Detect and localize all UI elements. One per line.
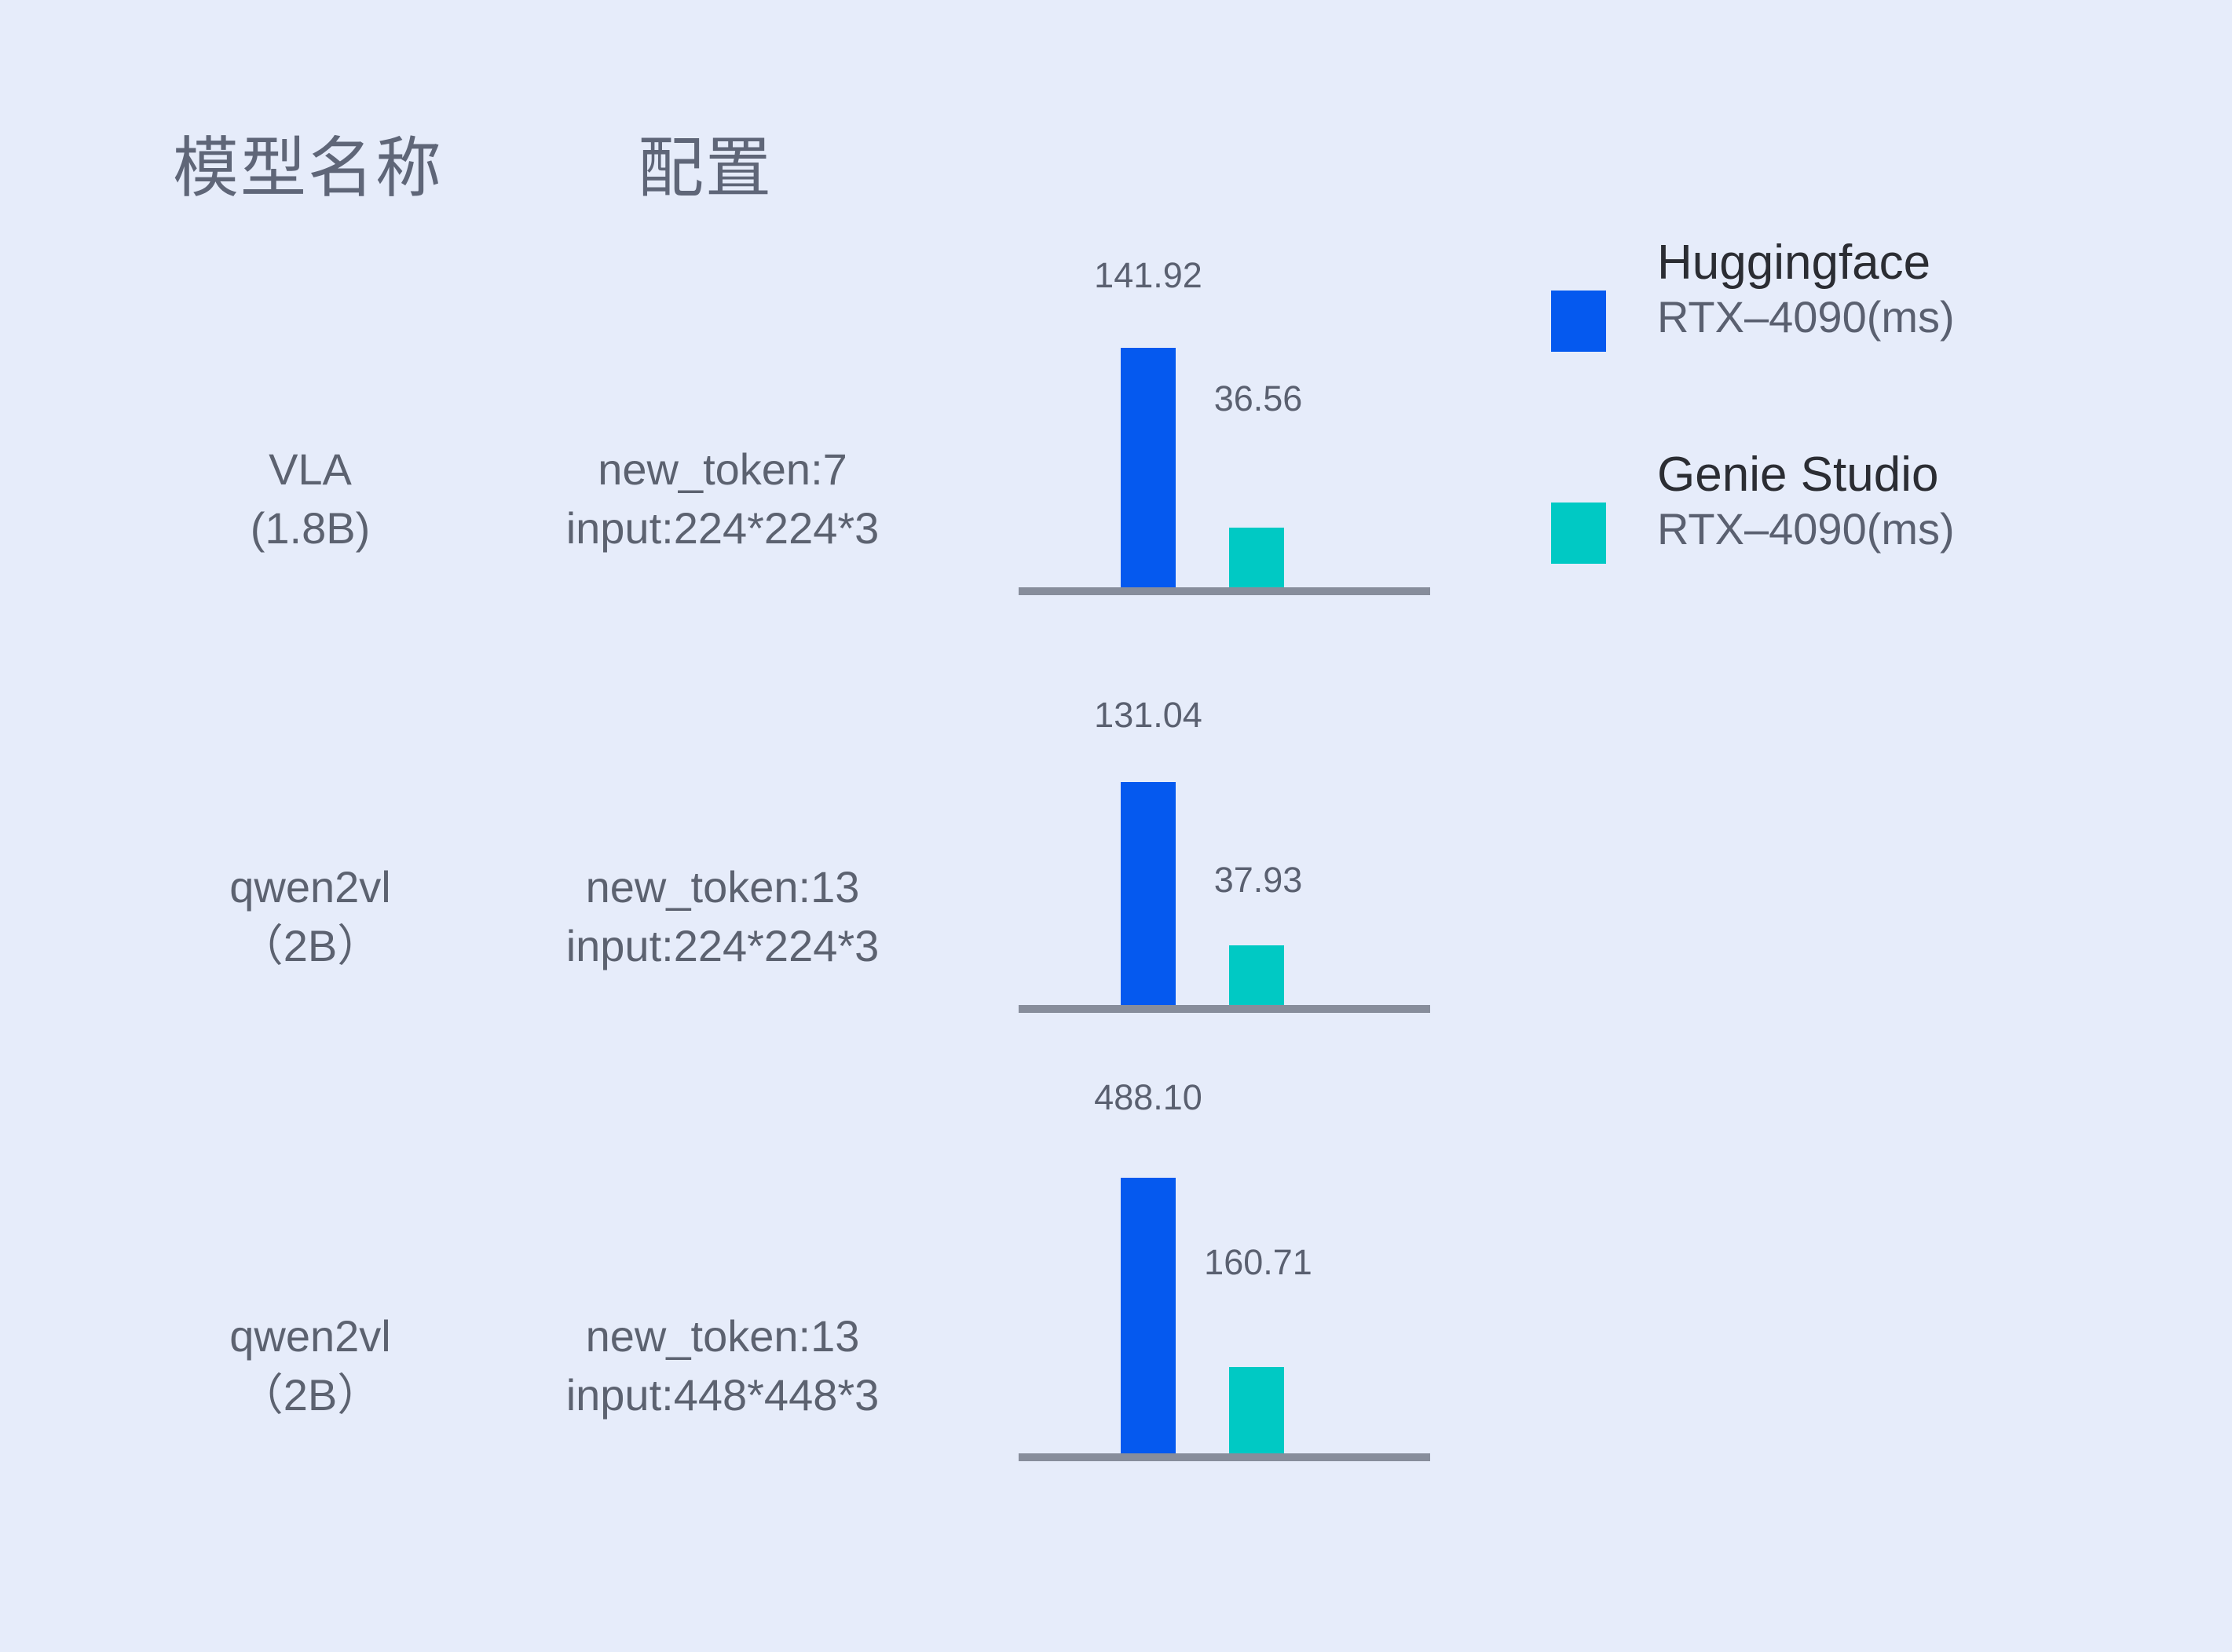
- legend-series-device: RTX–4090(ms): [1657, 502, 2175, 557]
- bar-panel: 131.04 37.93: [1019, 675, 1430, 1005]
- bar-value-huggingface: 488.10: [1046, 1080, 1250, 1115]
- row-model-size: （2B）: [141, 916, 479, 975]
- legend-series-name: Huggingface: [1657, 236, 2175, 290]
- row-config-input: input:448*448*3: [503, 1365, 942, 1424]
- bar-huggingface[interactable]: [1121, 1178, 1176, 1460]
- blue-square-icon: [1551, 291, 1606, 352]
- bar-value-huggingface: 141.92: [1046, 258, 1250, 293]
- row-config-tokens: new_token:7: [503, 440, 942, 499]
- panel-baseline: [1019, 1453, 1430, 1461]
- bar-huggingface[interactable]: [1121, 782, 1176, 1005]
- bar-genie[interactable]: [1229, 1367, 1284, 1453]
- panel-baseline: [1019, 587, 1430, 595]
- row-config-label: new_token:13 input:224*224*3: [503, 857, 942, 975]
- row-model-label: qwen2vl （2B）: [141, 1307, 479, 1424]
- row-model-label: VLA (1.8B): [141, 440, 479, 557]
- row-config-label: new_token:13 input:448*448*3: [503, 1307, 942, 1424]
- column-header-config: 配置: [638, 135, 773, 201]
- row-model-size: (1.8B): [141, 499, 479, 557]
- column-header-model-name: 模型名称: [173, 135, 443, 201]
- bar-genie[interactable]: [1229, 945, 1284, 1005]
- bar-panel: 488.10 160.71: [1019, 1099, 1430, 1460]
- legend-item-genie-studio[interactable]: Genie Studio RTX–4090(ms): [1551, 448, 2195, 605]
- bar-value-genie: 37.93: [1156, 862, 1360, 897]
- legend-text-block: Genie Studio RTX–4090(ms): [1657, 448, 2175, 557]
- legend-item-huggingface[interactable]: Huggingface RTX–4090(ms): [1551, 236, 2195, 393]
- legend-series-name: Genie Studio: [1657, 448, 2175, 502]
- bar-panel: 141.92 36.56: [1019, 236, 1430, 595]
- bar-value-genie: 36.56: [1156, 381, 1360, 416]
- row-config-input: input:224*224*3: [503, 499, 942, 557]
- legend-text-block: Huggingface RTX–4090(ms): [1657, 236, 2175, 345]
- legend-series-device: RTX–4090(ms): [1657, 290, 2175, 345]
- row-model-name: qwen2vl: [141, 1307, 479, 1365]
- teal-square-icon: [1551, 503, 1606, 564]
- row-config-tokens: new_token:13: [503, 857, 942, 916]
- bar-value-genie: 160.71: [1156, 1244, 1360, 1280]
- bar-value-huggingface: 131.04: [1046, 697, 1250, 733]
- row-model-name: qwen2vl: [141, 857, 479, 916]
- row-config-label: new_token:7 input:224*224*3: [503, 440, 942, 557]
- row-config-input: input:224*224*3: [503, 916, 942, 975]
- bar-huggingface[interactable]: [1121, 348, 1176, 587]
- row-model-name: VLA: [141, 440, 479, 499]
- bar-genie[interactable]: [1229, 528, 1284, 587]
- row-config-tokens: new_token:13: [503, 1307, 942, 1365]
- chart-canvas: 模型名称 配置 VLA (1.8B) new_token:7 input:224…: [0, 0, 2232, 1652]
- row-model-label: qwen2vl （2B）: [141, 857, 479, 975]
- row-model-size: （2B）: [141, 1365, 479, 1424]
- panel-baseline: [1019, 1005, 1430, 1013]
